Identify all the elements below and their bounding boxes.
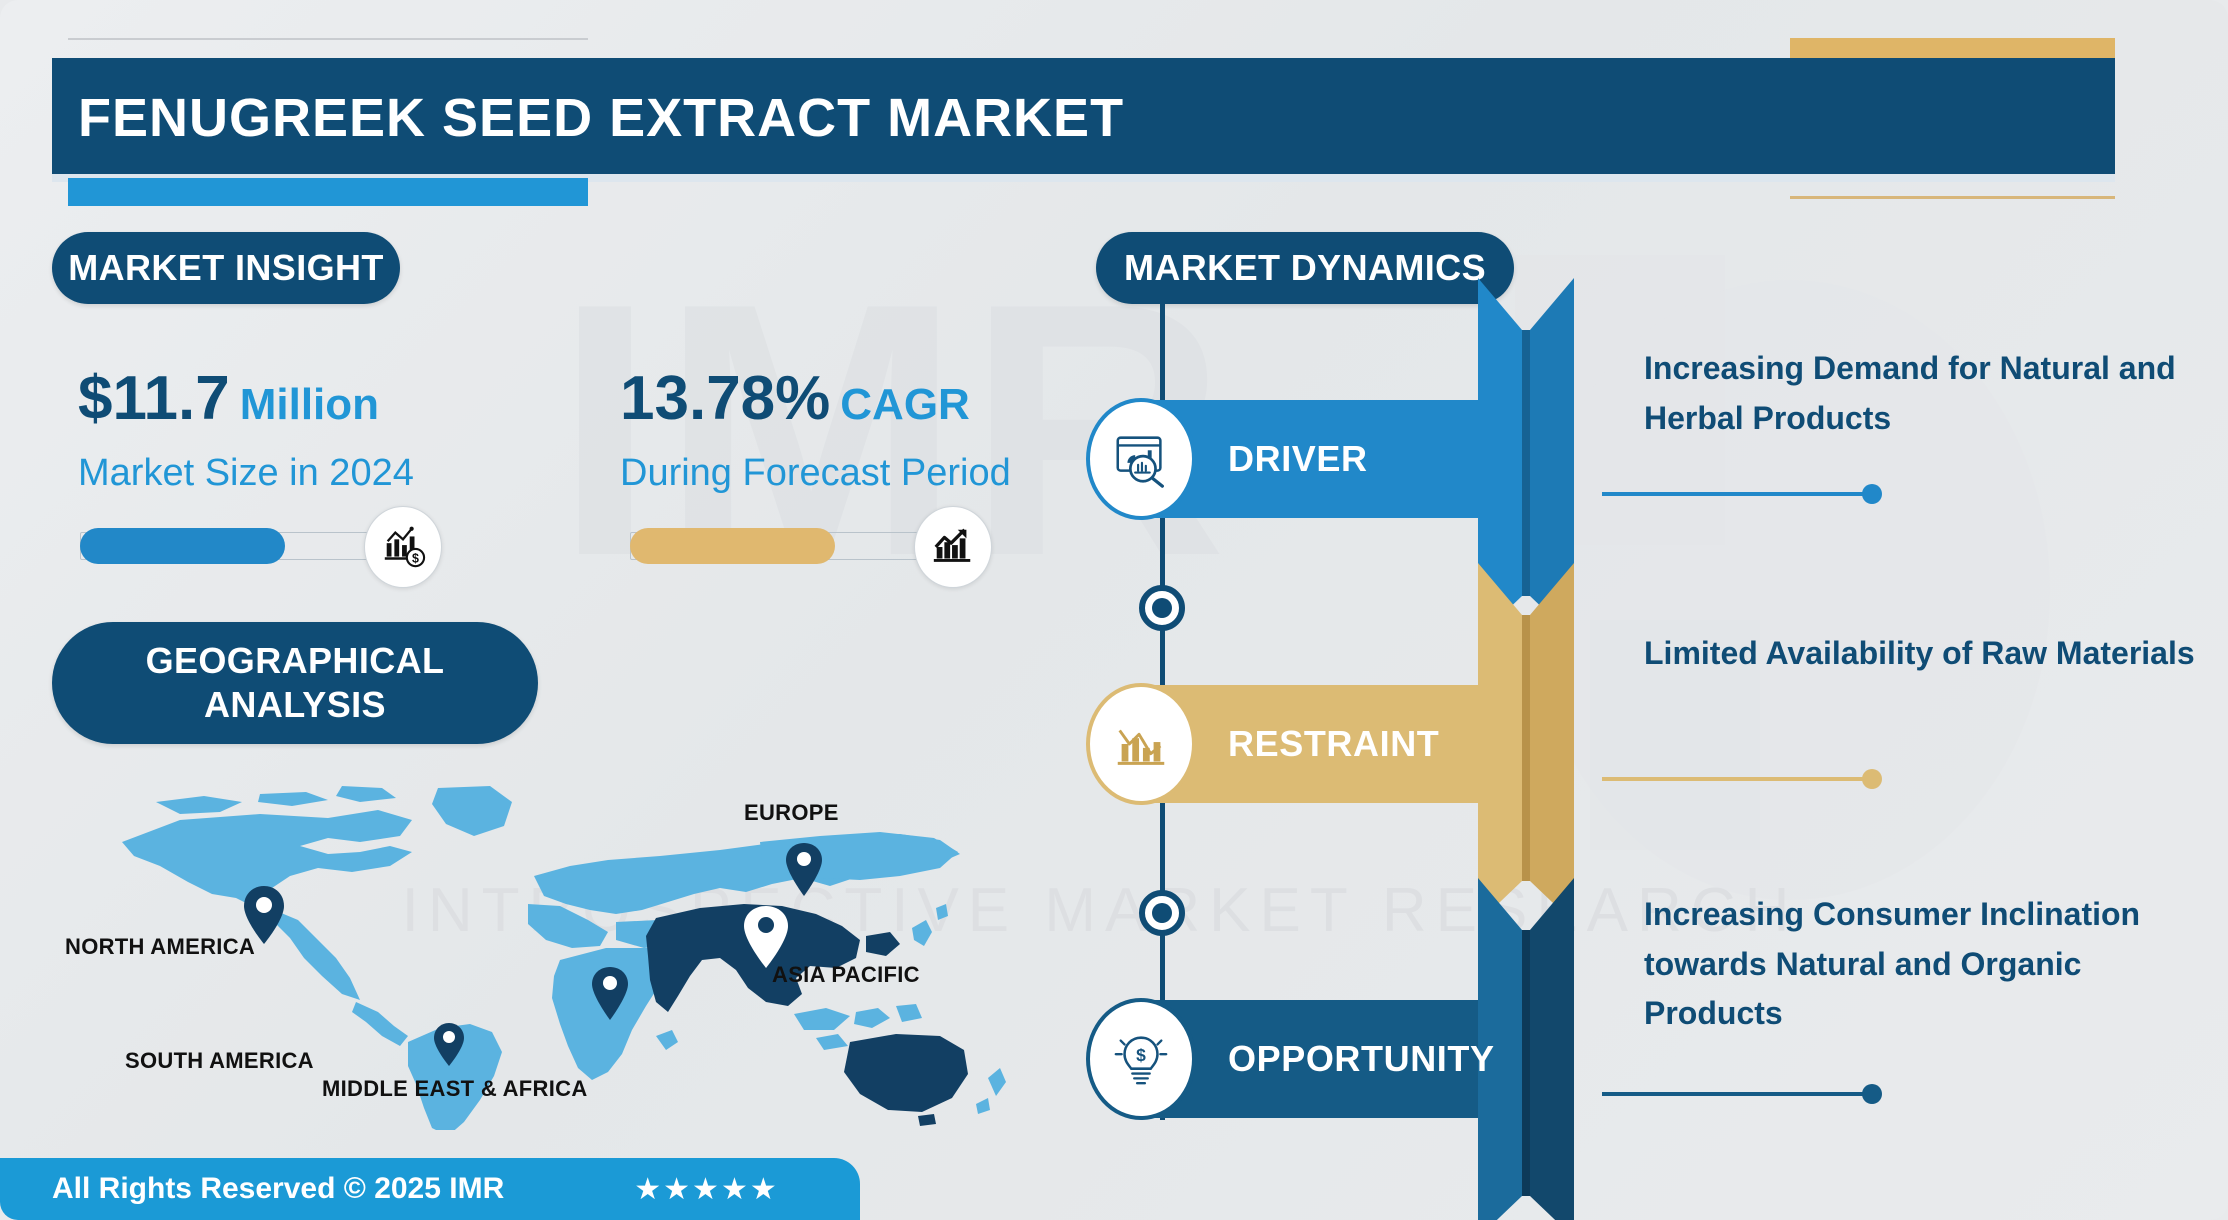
market-insight-pill-label: MARKET INSIGHT (68, 247, 384, 289)
footer-bar: All Rights Reserved © 2025 IMR ★★★★★ (0, 1158, 860, 1220)
map-label-north-america: NORTH AMERICA (65, 934, 255, 960)
stat-cagr-value: 13.78%CAGR (620, 368, 1090, 430)
driver-label: DRIVER (1228, 438, 1368, 480)
chart-search-icon (1086, 398, 1196, 520)
stat-market-size: $11.7Million Market Size in 2024 (78, 368, 498, 495)
driver-end-dot (1862, 484, 1882, 504)
restraint-ribbon (1478, 563, 1574, 923)
header-blue-accent (68, 178, 588, 206)
footer-copyright: All Rights Reserved © 2025 IMR (52, 1172, 504, 1206)
market-insight-pill: MARKET INSIGHT (52, 232, 400, 304)
header-hairline (68, 38, 588, 40)
bar-chart-dollar-icon: $ (364, 506, 442, 588)
driver-underline (1602, 492, 1870, 496)
restraint-label: RESTRAINT (1228, 723, 1439, 765)
growth-arrow-chart-icon (914, 506, 992, 588)
stat-cagr-number: 13.78% (620, 364, 830, 433)
map-label-asia-pacific: ASIA PACIFIC (772, 962, 920, 988)
market-dynamics-pill: MARKET DYNAMICS (1096, 232, 1514, 304)
stat-market-size-unit: Million (240, 380, 379, 429)
geographical-analysis-pill: GEOGRAPHICAL ANALYSIS (52, 622, 538, 744)
stat-cagr: 13.78%CAGR During Forecast Period (620, 368, 1090, 495)
stat-cagr-caption: During Forecast Period (620, 452, 1090, 495)
declining-bar-chart-icon (1086, 683, 1196, 805)
restraint-end-dot (1862, 769, 1882, 789)
header-gold-hairline (1790, 196, 2115, 199)
market-size-progress-fill (80, 528, 285, 564)
driver-text: Increasing Demand for Natural and Herbal… (1644, 344, 2224, 443)
geo-pill-line2: ANALYSIS (204, 683, 386, 727)
stat-market-size-caption: Market Size in 2024 (78, 452, 498, 495)
opportunity-underline (1602, 1092, 1870, 1096)
svg-text:$: $ (412, 551, 419, 565)
stat-market-size-value: $11.7Million (78, 368, 498, 430)
opportunity-bar: $ OPPORTUNITY (1130, 1000, 1500, 1118)
map-label-europe: EUROPE (744, 800, 839, 826)
svg-text:$: $ (1136, 1045, 1146, 1065)
infographic-canvas: IMR INTROSPECTIVE MARKET RESEARCH FENUGR… (0, 0, 2228, 1220)
market-size-progress: $ (80, 518, 410, 574)
cagr-progress (630, 518, 960, 574)
opportunity-end-dot (1862, 1084, 1882, 1104)
cagr-progress-fill (630, 528, 835, 564)
restraint-bar: RESTRAINT (1130, 685, 1500, 803)
map-label-south-america: SOUTH AMERICA (125, 1048, 314, 1074)
timeline-node-1 (1139, 585, 1185, 631)
restraint-text: Limited Availability of Raw Materials (1644, 629, 2224, 679)
timeline-node-2 (1139, 890, 1185, 936)
stat-market-size-number: $11.7 (78, 364, 230, 433)
opportunity-label: OPPORTUNITY (1228, 1038, 1495, 1080)
page-title: FENUGREEK SEED EXTRACT MARKET (78, 70, 1124, 166)
opportunity-text: Increasing Consumer Inclination towards … (1644, 890, 2224, 1039)
driver-bar: DRIVER (1130, 400, 1500, 518)
map-pin-europe (786, 843, 822, 896)
map-label-middle-east-africa: MIDDLE EAST & AFRICA (322, 1076, 588, 1102)
market-dynamics-pill-label: MARKET DYNAMICS (1124, 247, 1486, 289)
restraint-underline (1602, 777, 1870, 781)
rating-stars-icon: ★★★★★ (634, 1172, 778, 1207)
stat-cagr-unit: CAGR (840, 380, 970, 429)
lightbulb-dollar-icon: $ (1086, 998, 1196, 1120)
geo-pill-line1: GEOGRAPHICAL (146, 639, 445, 683)
